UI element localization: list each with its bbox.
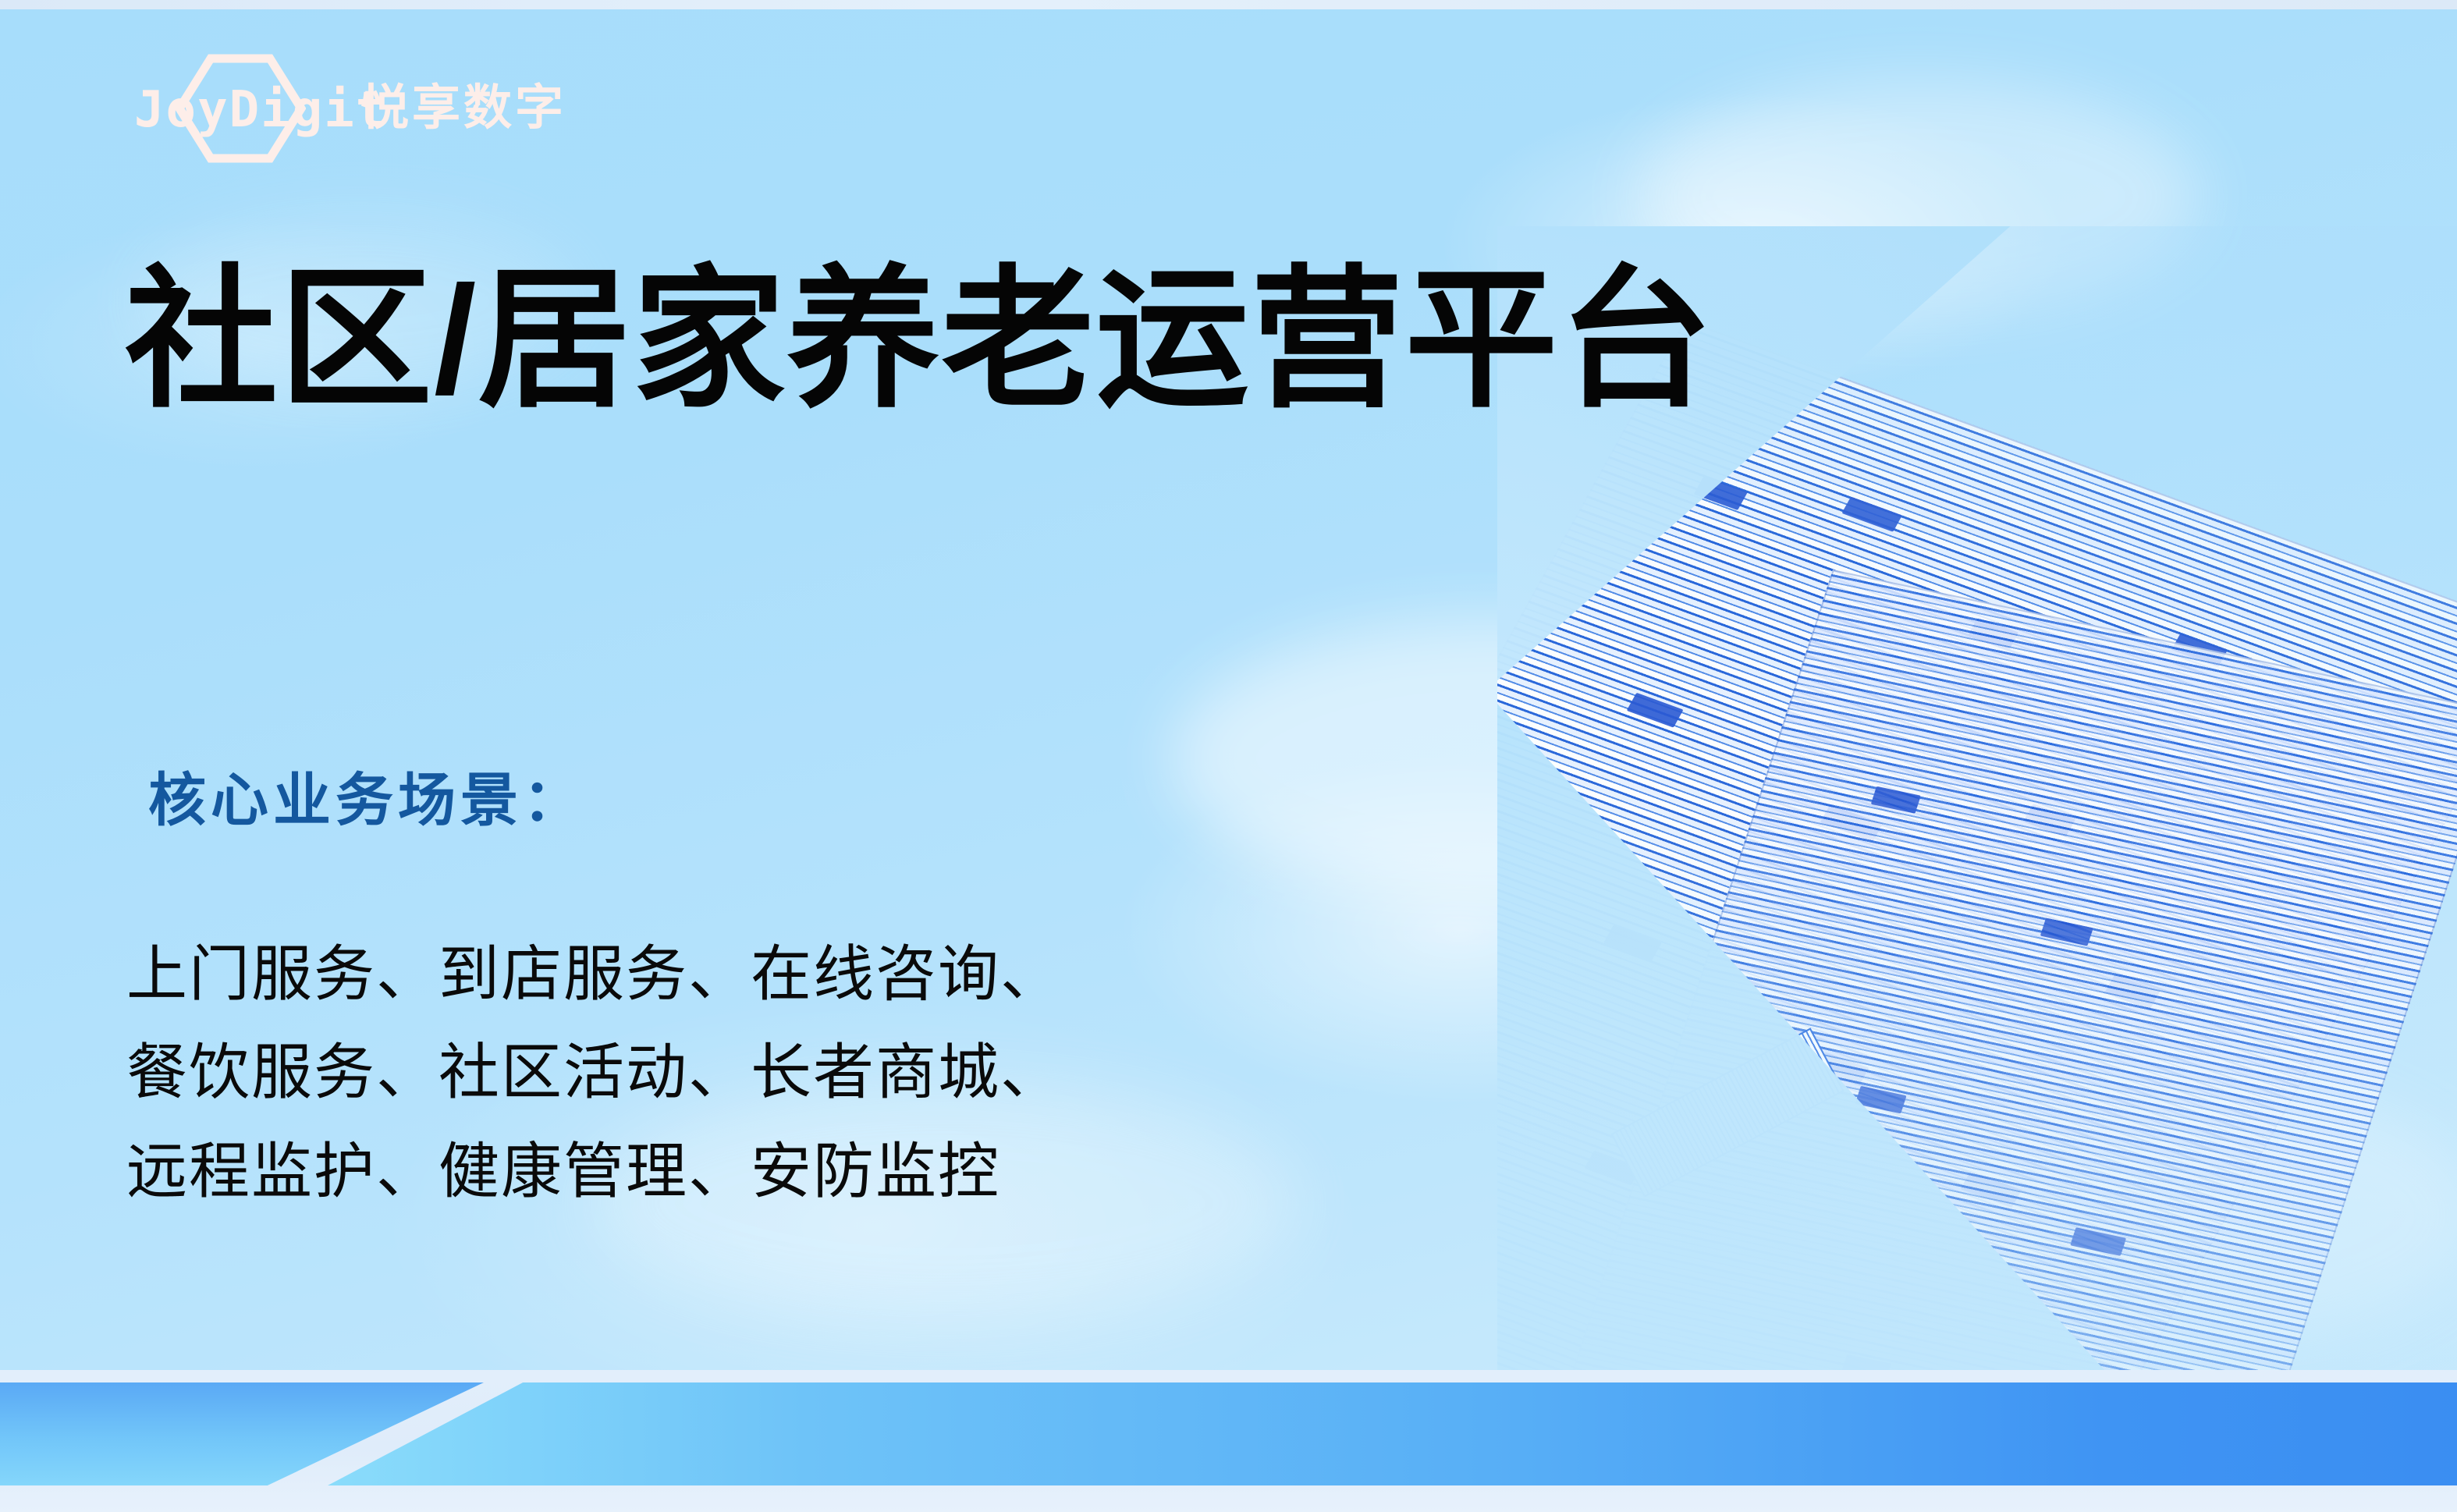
page-title: 社区/居家养老运营平台 [125, 257, 1713, 423]
scenario-list: 上门服务、到店服务、在线咨询、 餐饮服务、社区活动、长者商城、 远程监护、健康管… [126, 925, 1063, 1220]
brand-logo[interactable]: JoyDigit 悦享数字 [134, 66, 566, 151]
logo-wordmark: JoyDigit [134, 85, 387, 135]
top-edge-strip [0, 0, 2457, 9]
slide-root: JoyDigit 悦享数字 社区/居家养老运营平台 核心业务场景： 上门服务、到… [0, 0, 2457, 1512]
logo-mark: JoyDigit [134, 54, 345, 163]
scenario-line: 远程监护、健康管理、安防监控 [126, 1122, 1063, 1220]
bottom-banner [0, 1370, 2457, 1512]
logo-wordmark-cn: 悦享数字 [360, 84, 566, 133]
section-heading: 核心业务场景： [148, 768, 585, 832]
angled-band-right [328, 1382, 2457, 1485]
scenario-line: 上门服务、到店服务、在线咨询、 [126, 925, 1063, 1023]
scenario-line: 餐饮服务、社区活动、长者商城、 [126, 1023, 1063, 1121]
